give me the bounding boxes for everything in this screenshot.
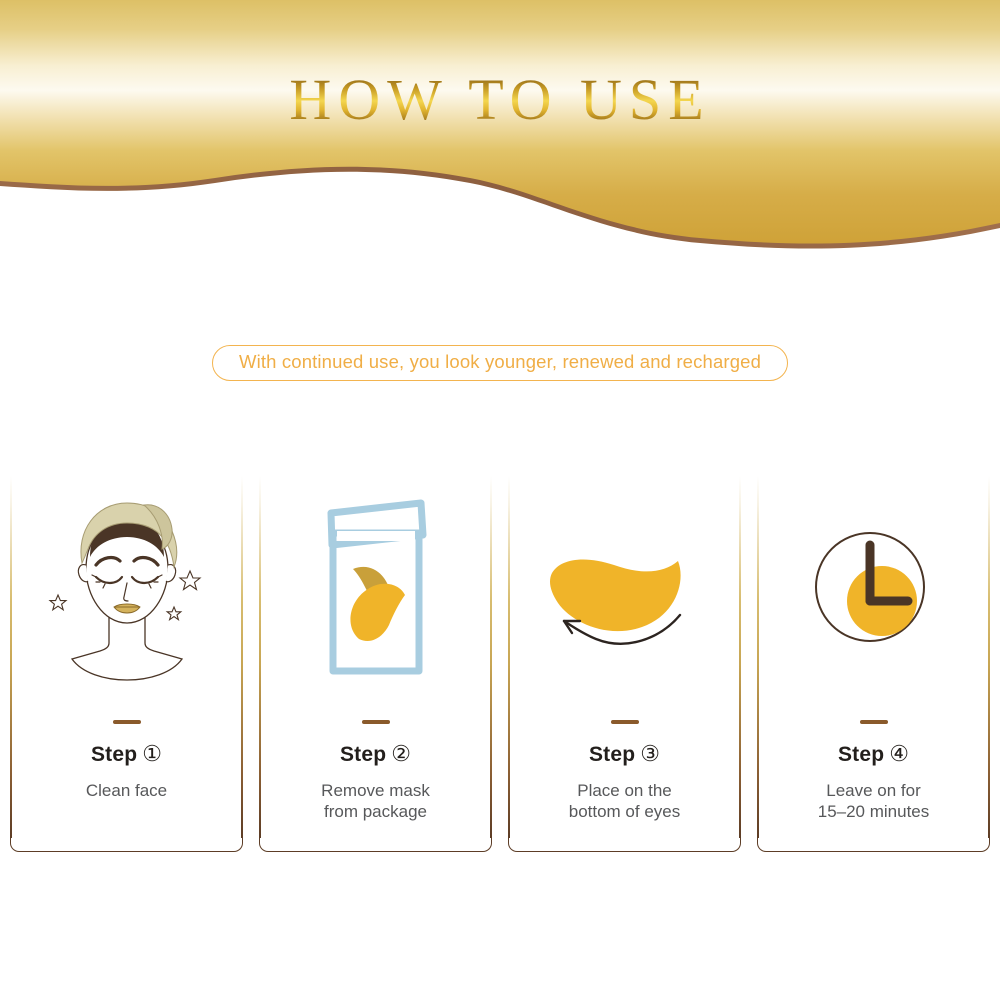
card-bottom-edge xyxy=(757,836,990,852)
step-card-3[interactable]: Step③ Place on the bottom of eyes xyxy=(508,468,741,852)
step-4-label: Step④ xyxy=(757,743,990,765)
step-word: Step xyxy=(91,743,137,766)
card-bottom-edge xyxy=(508,836,741,852)
step-2-description: Remove mask from package xyxy=(259,780,492,822)
card-divider xyxy=(362,720,390,724)
step-4-illustration xyxy=(757,486,990,696)
tagline-container: With continued use, you look younger, re… xyxy=(0,345,1000,381)
step-1-description: Clean face xyxy=(10,780,243,801)
step-word: Step xyxy=(838,743,884,766)
step-word: Step xyxy=(340,743,386,766)
step-card-4[interactable]: Step④ Leave on for 15–20 minutes xyxy=(757,468,990,852)
eye-patch-arrow-icon xyxy=(530,511,720,671)
card-divider xyxy=(113,720,141,724)
clock-icon xyxy=(804,521,944,661)
sparkle-star-icon xyxy=(180,571,200,590)
page-title: HOW TO USE xyxy=(0,66,1000,133)
step-1-illustration xyxy=(10,486,243,696)
tagline-pill: With continued use, you look younger, re… xyxy=(212,345,788,381)
step-number: ② xyxy=(391,741,411,766)
sparkle-star-icon xyxy=(167,607,181,620)
card-divider xyxy=(611,720,639,724)
header-banner: HOW TO USE xyxy=(0,0,1000,260)
card-bottom-edge xyxy=(10,836,243,852)
woman-face-icon xyxy=(32,491,222,691)
step-card-1[interactable]: Step① Clean face xyxy=(10,468,243,852)
step-4-description: Leave on for 15–20 minutes xyxy=(757,780,990,822)
step-number: ④ xyxy=(889,741,909,766)
step-1-label: Step① xyxy=(10,743,243,765)
step-number: ① xyxy=(142,741,162,766)
sparkle-star-icon xyxy=(50,595,66,610)
steps-row: Step① Clean face Step② Re xyxy=(10,468,990,854)
step-number: ③ xyxy=(640,741,660,766)
step-2-illustration xyxy=(259,486,492,696)
step-3-description: Place on the bottom of eyes xyxy=(508,780,741,822)
eye-mask-package-icon xyxy=(301,491,451,691)
card-divider xyxy=(860,720,888,724)
step-word: Step xyxy=(589,743,635,766)
step-3-label: Step③ xyxy=(508,743,741,765)
step-3-illustration xyxy=(508,486,741,696)
card-bottom-edge xyxy=(259,836,492,852)
step-card-2[interactable]: Step② Remove mask from package xyxy=(259,468,492,852)
step-2-label: Step② xyxy=(259,743,492,765)
